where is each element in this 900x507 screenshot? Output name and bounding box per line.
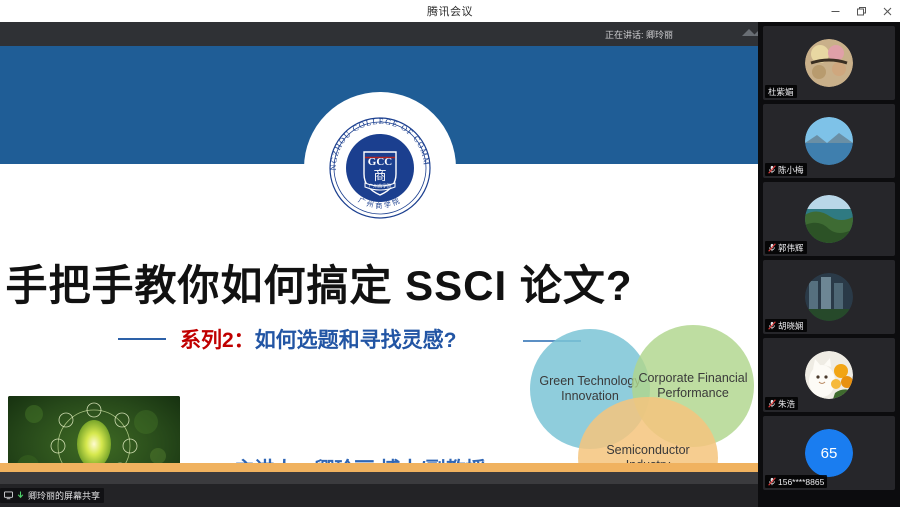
download-arrow-icon (16, 487, 25, 505)
mic-muted-icon (768, 317, 776, 335)
participant-namebar: 郭伟辉 (765, 241, 807, 254)
participant-rail[interactable]: 杜紫媚 (758, 22, 900, 507)
avatar-initials: 65 (805, 429, 853, 477)
participant-name: 陈小梅 (778, 164, 804, 176)
avatar (805, 195, 853, 243)
tencent-meeting-window: 腾讯会议 正在讲话: 卿玲丽 (0, 0, 900, 507)
avatar (805, 351, 853, 399)
subtitle-series-label: 系列2： (180, 329, 255, 352)
participant-tile[interactable]: 朱浩 (763, 338, 895, 412)
subtitle-topic-label: 如何选题和寻找灵感? (255, 329, 457, 352)
window-titlebar: 腾讯会议 (0, 0, 900, 22)
participant-name: 胡晓娴 (778, 320, 804, 332)
mic-muted-icon (768, 395, 776, 413)
participant-namebar: 杜紫媚 (765, 85, 797, 98)
university-logo: GUANGZHOU COLLEGE OF COMMERCE 广州商学院 GCC … (324, 112, 436, 224)
participant-tile[interactable]: 胡晓娴 (763, 260, 895, 334)
slide-subtitle: 系列2：如何选题和寻找灵感? (180, 324, 457, 354)
participant-name: 郭伟辉 (778, 242, 804, 254)
minimize-button[interactable] (822, 0, 848, 22)
share-status-label: 卿玲丽的屏幕共享 (28, 489, 100, 502)
slide-title: 手把手教你如何搞定 SSCI 论文? (0, 252, 758, 313)
monitor-icon (4, 487, 13, 505)
shared-screen-area[interactable]: GUANGZHOU COLLEGE OF COMMERCE 广州商学院 GCC … (0, 46, 758, 484)
svg-text:广州商学院: 广州商学院 (369, 183, 392, 190)
avatar (805, 273, 853, 321)
share-statusbar: 卿玲丽的屏幕共享 (0, 484, 758, 507)
slide-bottom-edge (0, 472, 758, 484)
participant-namebar: 朱浩 (765, 397, 798, 410)
avatar: 65 (805, 429, 853, 477)
participant-namebar: 陈小梅 (765, 163, 807, 176)
window-title: 腾讯会议 (427, 3, 473, 19)
presentation-slide: GUANGZHOU COLLEGE OF COMMERCE 广州商学院 GCC … (0, 46, 758, 484)
close-button[interactable] (874, 0, 900, 22)
subtitle-rule-left (118, 338, 166, 340)
mic-muted-icon (768, 161, 776, 179)
speaking-label: 正在讲话: 卿玲丽 (605, 28, 673, 41)
svg-text:商: 商 (373, 168, 386, 183)
participant-namebar: 156****8865 (765, 475, 827, 488)
speaking-indicator: 正在讲话: 卿玲丽 (605, 22, 775, 46)
participant-tile[interactable]: 陈小梅 (763, 104, 895, 178)
share-status-chip[interactable]: 卿玲丽的屏幕共享 (0, 488, 104, 503)
participant-tile[interactable]: 杜紫媚 (763, 26, 895, 100)
avatar (805, 39, 853, 87)
participant-tile[interactable]: 郭伟辉 (763, 182, 895, 256)
participant-name: 朱浩 (778, 398, 795, 410)
participant-name: 156****8865 (778, 477, 824, 487)
restore-button[interactable] (848, 0, 874, 22)
slide-title-text: 手把手教你如何搞定 SSCI 论文? (5, 252, 632, 313)
slide-accent-bar (0, 463, 758, 472)
mic-muted-icon (768, 239, 776, 257)
participant-namebar: 胡晓娴 (765, 319, 807, 332)
avatar (805, 117, 853, 165)
window-controls (822, 0, 900, 22)
mic-muted-icon (768, 473, 776, 491)
participant-tile[interactable]: 65 156****8865 (763, 416, 895, 490)
svg-text:GCC: GCC (368, 156, 393, 168)
participant-name: 杜紫媚 (768, 86, 794, 98)
